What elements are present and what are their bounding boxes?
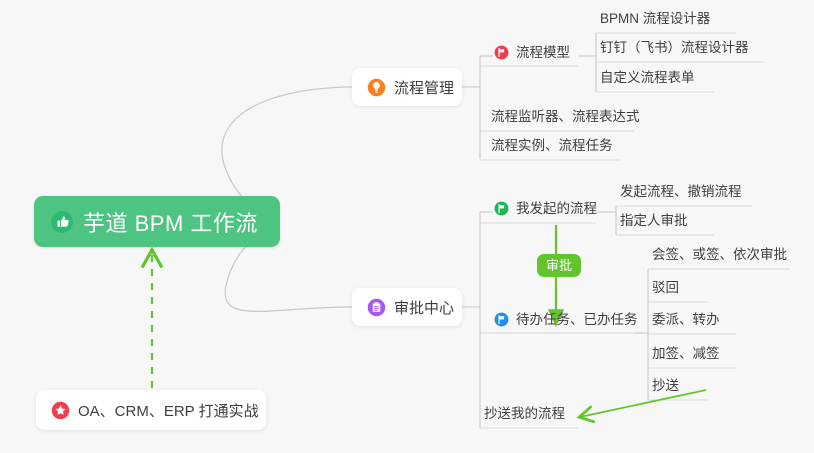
lightbulb-icon: [367, 78, 386, 97]
flag-icon: [494, 45, 509, 60]
branch-node-approval-center[interactable]: 审批中心: [352, 288, 462, 326]
node-label-cc: 抄送: [652, 379, 679, 393]
node-label-delegate-transfer: 委派、转办: [652, 313, 720, 327]
node-label-add-remove-sign: 加签、减签: [652, 347, 720, 361]
flag-icon: [494, 312, 509, 327]
thumbs-up-icon: [50, 210, 74, 234]
node-label-todo-done-tasks: 待办任务、已办任务: [516, 313, 638, 327]
node-label-my-initiated: 我发起的流程: [516, 202, 597, 216]
node-label-process-instance: 流程实例、流程任务: [491, 139, 613, 153]
node-label-reject: 驳回: [652, 281, 679, 295]
star-icon: [51, 401, 70, 420]
node-bpmn-designer[interactable]: BPMN 流程设计器: [600, 12, 710, 28]
node-label-cc-to-me: 抄送我的流程: [484, 407, 565, 421]
node-label-dingtalk-designer: 钉钉（飞书）流程设计器: [600, 41, 749, 55]
arrow-cc-to-my-cc: [580, 390, 706, 417]
floating-card-integration[interactable]: OA、CRM、ERP 打通实战: [36, 390, 266, 430]
node-cc-to-me[interactable]: 抄送我的流程: [484, 407, 565, 423]
branch-label-approval-center: 审批中心: [394, 297, 454, 318]
node-label-initiate-cancel: 发起流程、撤销流程: [620, 185, 742, 199]
node-reject[interactable]: 驳回: [652, 281, 679, 297]
floating-card-integration-label: OA、CRM、ERP 打通实战: [78, 400, 259, 421]
node-cc[interactable]: 抄送: [652, 379, 679, 395]
mindmap-canvas: 芋道 BPM 工作流 流程管理 流程模型 BPMN 流程设计器 钉钉（飞书）流程: [0, 0, 814, 453]
clipboard-icon: [367, 298, 386, 317]
node-label-process-model: 流程模型: [516, 46, 570, 60]
node-my-initiated[interactable]: 我发起的流程: [494, 201, 597, 218]
connector-root-to-process-mgmt: [222, 87, 352, 214]
node-process-listener[interactable]: 流程监听器、流程表达式: [491, 110, 640, 126]
node-custom-form[interactable]: 自定义流程表单: [600, 71, 695, 87]
annotation-chip-approve: 审批: [537, 254, 581, 277]
node-label-process-listener: 流程监听器、流程表达式: [491, 110, 640, 124]
flag-icon: [494, 201, 509, 216]
root-node-label: 芋道 BPM 工作流: [83, 206, 258, 238]
node-countersign[interactable]: 会签、或签、依次审批: [652, 248, 787, 264]
node-label-custom-form: 自定义流程表单: [600, 71, 695, 85]
node-process-instance[interactable]: 流程实例、流程任务: [491, 139, 613, 155]
node-label-assigned-approval: 指定人审批: [620, 214, 688, 228]
node-dingtalk-designer[interactable]: 钉钉（飞书）流程设计器: [600, 41, 749, 57]
branch-node-process-management[interactable]: 流程管理: [352, 68, 462, 106]
node-assigned-approval[interactable]: 指定人审批: [620, 214, 688, 230]
node-delegate-transfer[interactable]: 委派、转办: [652, 313, 720, 329]
node-label-countersign: 会签、或签、依次审批: [652, 248, 787, 262]
branch-label-process-management: 流程管理: [394, 77, 454, 98]
root-node[interactable]: 芋道 BPM 工作流: [34, 196, 280, 247]
node-initiate-cancel[interactable]: 发起流程、撤销流程: [620, 185, 742, 201]
node-todo-done-tasks[interactable]: 待办任务、已办任务: [494, 312, 638, 329]
annotation-chip-approve-label: 审批: [546, 258, 572, 273]
node-label-bpmn-designer: BPMN 流程设计器: [600, 12, 710, 26]
node-add-remove-sign[interactable]: 加签、减签: [652, 347, 720, 363]
node-process-model[interactable]: 流程模型: [494, 45, 570, 62]
